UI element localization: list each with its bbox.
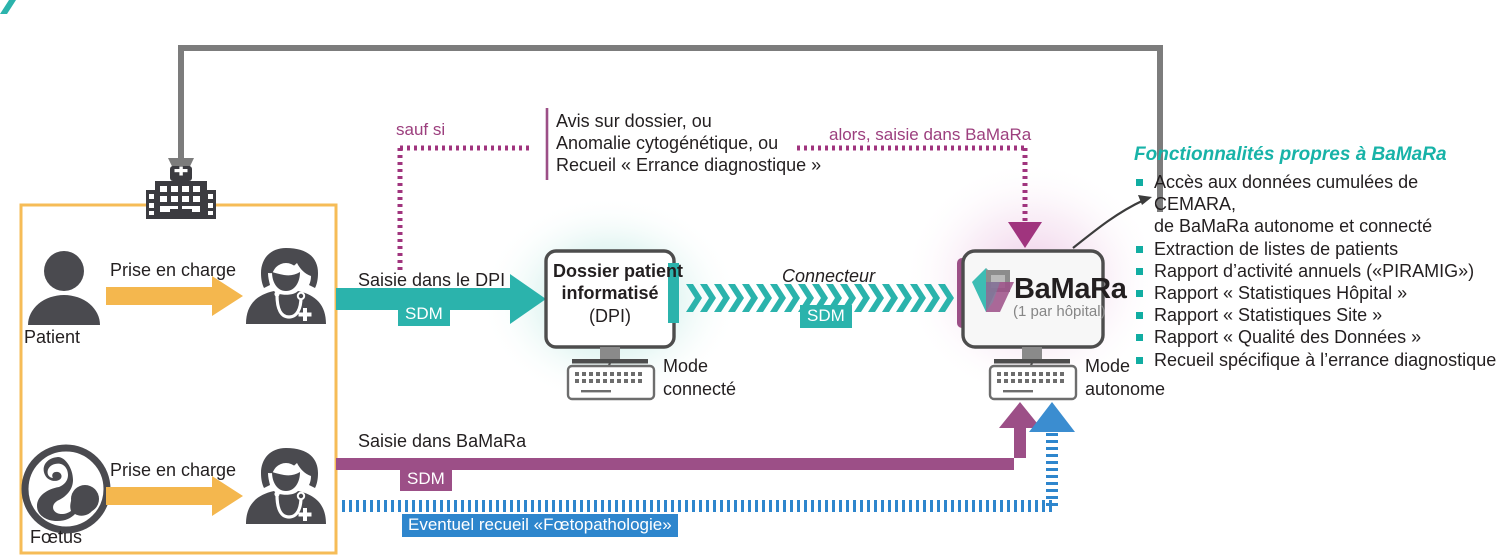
features-panel: Fonctionnalités propres à BaMaRa Accès a… bbox=[1134, 144, 1500, 371]
prise-en-charge-label-bottom: Prise en charge bbox=[110, 460, 236, 481]
feature-item-6: Rapport « Qualité des Données » bbox=[1134, 326, 1500, 348]
feature-item-1: Accès aux données cumulées de CEMARA, de… bbox=[1134, 171, 1500, 238]
feature-text-1b: de BaMaRa autonome et connecté bbox=[1154, 215, 1500, 237]
feature-item-5: Rapport « Statistiques Site » bbox=[1134, 304, 1500, 326]
saisie-dpi-label: Saisie dans le DPI bbox=[358, 270, 505, 291]
person-icon bbox=[28, 251, 100, 325]
condition-line-3: Recueil « Errance diagnostique » bbox=[556, 155, 821, 176]
condition-line-2: Anomalie cytogénétique, ou bbox=[556, 133, 778, 154]
dpi-mode-line2: connecté bbox=[663, 379, 736, 400]
doctor-icon-bottom bbox=[246, 448, 326, 524]
sdm-badge-connecteur: SDM bbox=[800, 305, 852, 328]
dpi-title-line3: (DPI) bbox=[553, 306, 667, 327]
sauf-si-label: sauf si bbox=[396, 120, 445, 140]
sdm-badge-dpi: SDM bbox=[398, 303, 450, 326]
foetopathologie-label: Eventuel recueil «Fœtopathologie» bbox=[402, 514, 678, 537]
bamara-mode-line1: Mode bbox=[1085, 356, 1130, 377]
sdm-badge-bamara: SDM bbox=[400, 468, 452, 491]
foetus-label: Fœtus bbox=[30, 527, 82, 548]
bamara-subtitle: (1 par hôpital) bbox=[1013, 303, 1106, 321]
patient-label: Patient bbox=[24, 327, 80, 348]
doctor-icon-top bbox=[246, 248, 326, 324]
feature-text-1a: Accès aux données cumulées de CEMARA, bbox=[1154, 172, 1418, 214]
dpi-title-line1: Dossier patient bbox=[553, 261, 667, 282]
bamara-mode-line2: autonome bbox=[1085, 379, 1165, 400]
hospital-icon bbox=[146, 166, 216, 219]
prise-en-charge-arrow-top bbox=[106, 276, 243, 316]
feature-item-3: Rapport d’activité annuels («PIRAMIG») bbox=[1134, 260, 1500, 282]
feature-item-4: Rapport « Statistiques Hôpital » bbox=[1134, 282, 1500, 304]
feature-item-7: Recueil spécifique à l’errance diagnosti… bbox=[1134, 349, 1500, 371]
dpi-title-line2: informatisé bbox=[553, 283, 667, 304]
connecteur-label: Connecteur bbox=[782, 266, 875, 287]
bamara-name: BaMaRa bbox=[1014, 272, 1127, 306]
condition-line-1: Avis sur dossier, ou bbox=[556, 111, 712, 132]
prise-en-charge-arrow-bottom bbox=[106, 476, 243, 516]
foetopathologie-arrow-head bbox=[1029, 402, 1075, 432]
foetus-icon bbox=[25, 448, 107, 530]
alors-label: alors, saisie dans BaMaRa bbox=[829, 125, 1031, 145]
prise-en-charge-label-top: Prise en charge bbox=[110, 260, 236, 281]
dpi-mode-line1: Mode bbox=[663, 356, 708, 377]
diagram-canvas: Patient Fœtus Prise en charge Prise en c… bbox=[0, 0, 1500, 560]
features-title: Fonctionnalités propres à BaMaRa bbox=[1134, 144, 1500, 166]
saisie-bamara-label: Saisie dans BaMaRa bbox=[358, 431, 526, 452]
feature-item-2: Extraction de listes de patients bbox=[1134, 238, 1500, 260]
features-list: Accès aux données cumulées de CEMARA, de… bbox=[1134, 171, 1500, 371]
